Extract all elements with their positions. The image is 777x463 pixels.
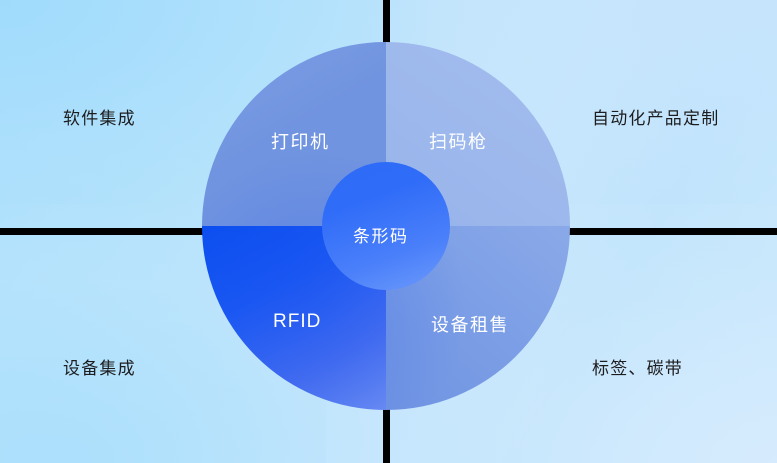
- ring-label-scanner: 扫码枪: [429, 128, 488, 154]
- corner-label-device-integration: 设备集成: [63, 354, 136, 379]
- core-circle-label: 条形码: [353, 222, 409, 247]
- corner-label-labels-ribbons: 标签、碳带: [592, 354, 683, 379]
- ring-label-rfid: RFID: [273, 311, 321, 333]
- corner-label-automation-customization: 自动化产品定制: [592, 104, 719, 129]
- corner-label-software-integration: 软件集成: [63, 104, 136, 129]
- ring-label-printer: 打印机: [271, 128, 330, 154]
- diagram-canvas: 打印机 扫码枪 RFID 设备租售 条形码 软件集成 自动化产品定制 设备集成 …: [0, 0, 777, 463]
- ring-label-equipment-rental: 设备租售: [431, 311, 509, 337]
